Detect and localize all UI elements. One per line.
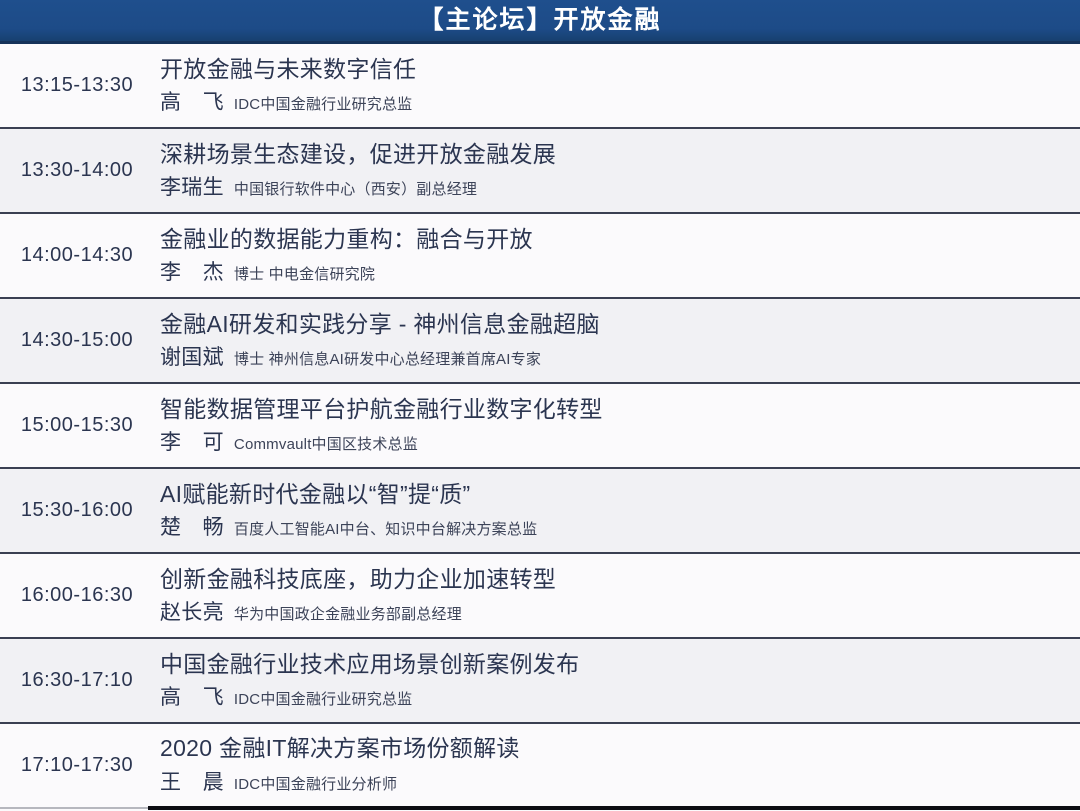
session-time: 14:30-15:00 — [0, 329, 160, 352]
session-content: 智能数据管理平台护航金融行业数字化转型 李 可 Commvault中国区技术总监 — [160, 395, 1080, 456]
session-row[interactable]: 14:30-15:00 金融AI研发和实践分享 - 神州信息金融超脑 谢国斌 博… — [0, 299, 1080, 384]
session-title: 金融业的数据能力重构：融合与开放 — [160, 225, 1060, 253]
session-row[interactable]: 17:10-17:30 2020 金融IT解决方案市场份额解读 王 晨 IDC中… — [0, 724, 1080, 806]
session-content: AI赋能新时代金融以“智”提“质” 楚 畅 百度人工智能AI中台、知识中台解决方… — [160, 480, 1080, 541]
session-row[interactable]: 15:00-15:30 智能数据管理平台护航金融行业数字化转型 李 可 Comm… — [0, 384, 1080, 469]
speaker-line: 李 杰 博士 中电金信研究院 — [160, 256, 1060, 286]
session-content: 2020 金融IT解决方案市场份额解读 王 晨 IDC中国金融行业分析师 — [160, 734, 1080, 795]
agenda-table: 【主论坛】开放金融 13:15-13:30 开放金融与未来数字信任 高 飞 ID… — [0, 0, 1080, 811]
speaker-name: 李 可 — [160, 426, 224, 456]
speaker-name: 高 飞 — [160, 86, 224, 116]
session-title: 中国金融行业技术应用场景创新案例发布 — [160, 650, 1060, 678]
speaker-line: 高 飞 IDC中国金融行业研究总监 — [160, 86, 1060, 116]
speaker-line: 王 晨 IDC中国金融行业分析师 — [160, 766, 1060, 796]
bottom-rule-left-segment — [0, 807, 148, 809]
session-row[interactable]: 16:00-16:30 创新金融科技底座，助力企业加速转型 赵长亮 华为中国政企… — [0, 554, 1080, 639]
speaker-line: 赵长亮 华为中国政企金融业务部副总经理 — [160, 596, 1060, 626]
session-content: 金融业的数据能力重构：融合与开放 李 杰 博士 中电金信研究院 — [160, 225, 1080, 286]
speaker-affiliation: IDC中国金融行业分析师 — [234, 773, 397, 794]
speaker-affiliation: IDC中国金融行业研究总监 — [234, 93, 412, 114]
speaker-line: 高 飞 IDC中国金融行业研究总监 — [160, 681, 1060, 711]
session-time: 17:10-17:30 — [0, 754, 160, 777]
speaker-affiliation: 百度人工智能AI中台、知识中台解决方案总监 — [234, 518, 537, 539]
speaker-affiliation: 中国银行软件中心（西安）副总经理 — [234, 178, 477, 199]
session-time: 14:00-14:30 — [0, 244, 160, 267]
speaker-affiliation: 博士 神州信息AI研发中心总经理兼首席AI专家 — [234, 348, 541, 369]
page-title: 【主论坛】开放金融 — [418, 8, 661, 33]
session-content: 中国金融行业技术应用场景创新案例发布 高 飞 IDC中国金融行业研究总监 — [160, 650, 1080, 711]
session-time: 16:00-16:30 — [0, 584, 160, 607]
session-time: 13:15-13:30 — [0, 74, 160, 97]
session-row[interactable]: 13:15-13:30 开放金融与未来数字信任 高 飞 IDC中国金融行业研究总… — [0, 44, 1080, 129]
bottom-rule-right-segment — [148, 806, 1080, 810]
speaker-name: 李瑞生 — [160, 171, 224, 201]
session-row[interactable]: 14:00-14:30 金融业的数据能力重构：融合与开放 李 杰 博士 中电金信… — [0, 214, 1080, 299]
speaker-affiliation: 博士 中电金信研究院 — [234, 263, 375, 284]
session-title: 创新金融科技底座，助力企业加速转型 — [160, 565, 1060, 593]
session-title: 2020 金融IT解决方案市场份额解读 — [160, 734, 1060, 762]
session-title: 智能数据管理平台护航金融行业数字化转型 — [160, 395, 1060, 423]
speaker-name: 赵长亮 — [160, 596, 224, 626]
speaker-name: 高 飞 — [160, 681, 224, 711]
speaker-name: 楚 畅 — [160, 511, 224, 541]
speaker-line: 李瑞生 中国银行软件中心（西安）副总经理 — [160, 171, 1060, 201]
speaker-name: 谢国斌 — [160, 341, 224, 371]
session-title: 金融AI研发和实践分享 - 神州信息金融超脑 — [160, 310, 1060, 338]
session-title: 开放金融与未来数字信任 — [160, 55, 1060, 83]
session-time: 16:30-17:10 — [0, 669, 160, 692]
forum-header-bar: 【主论坛】开放金融 — [0, 0, 1080, 44]
session-time: 13:30-14:00 — [0, 159, 160, 182]
speaker-name: 李 杰 — [160, 256, 224, 286]
session-content: 深耕场景生态建设，促进开放金融发展 李瑞生 中国银行软件中心（西安）副总经理 — [160, 140, 1080, 201]
session-row[interactable]: 13:30-14:00 深耕场景生态建设，促进开放金融发展 李瑞生 中国银行软件… — [0, 129, 1080, 214]
speaker-line: 楚 畅 百度人工智能AI中台、知识中台解决方案总监 — [160, 511, 1060, 541]
session-title: 深耕场景生态建设，促进开放金融发展 — [160, 140, 1060, 168]
speaker-affiliation: Commvault中国区技术总监 — [234, 433, 418, 454]
speaker-affiliation: IDC中国金融行业研究总监 — [234, 688, 412, 709]
speaker-line: 谢国斌 博士 神州信息AI研发中心总经理兼首席AI专家 — [160, 341, 1060, 371]
session-content: 金融AI研发和实践分享 - 神州信息金融超脑 谢国斌 博士 神州信息AI研发中心… — [160, 310, 1080, 371]
session-list: 13:15-13:30 开放金融与未来数字信任 高 飞 IDC中国金融行业研究总… — [0, 44, 1080, 806]
session-row[interactable]: 15:30-16:00 AI赋能新时代金融以“智”提“质” 楚 畅 百度人工智能… — [0, 469, 1080, 554]
session-time: 15:30-16:00 — [0, 499, 160, 522]
session-content: 开放金融与未来数字信任 高 飞 IDC中国金融行业研究总监 — [160, 55, 1080, 116]
speaker-affiliation: 华为中国政企金融业务部副总经理 — [234, 603, 462, 624]
speaker-name: 王 晨 — [160, 766, 224, 796]
session-row[interactable]: 16:30-17:10 中国金融行业技术应用场景创新案例发布 高 飞 IDC中国… — [0, 639, 1080, 724]
session-content: 创新金融科技底座，助力企业加速转型 赵长亮 华为中国政企金融业务部副总经理 — [160, 565, 1080, 626]
session-title: AI赋能新时代金融以“智”提“质” — [160, 480, 1060, 508]
speaker-line: 李 可 Commvault中国区技术总监 — [160, 426, 1060, 456]
bottom-rule — [0, 805, 1080, 811]
session-time: 15:00-15:30 — [0, 414, 160, 437]
